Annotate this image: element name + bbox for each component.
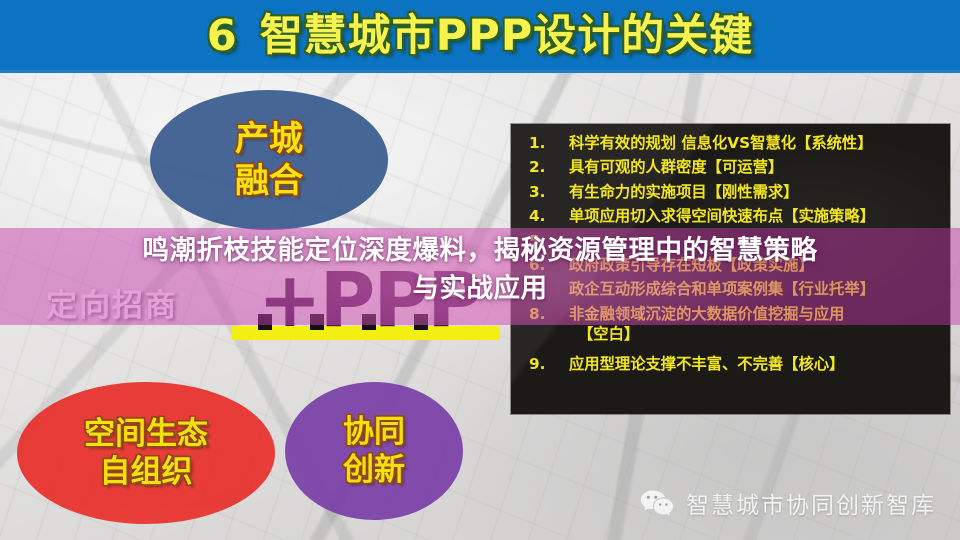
page-title: 6智慧城市PPP设计的关键: [207, 13, 753, 58]
list-item-index: 9.: [521, 355, 569, 375]
wechat-account-label: 智慧城市协同创新智库: [686, 486, 936, 520]
list-item-index: 3.: [521, 183, 569, 203]
diagram-node-kongjian-shengtai: 空间生态 自组织: [17, 382, 275, 524]
list-item-index: 4.: [521, 207, 569, 227]
list-item-text-continued: 【空白】: [569, 325, 944, 345]
list-item-text: 具有可观的人群密度【可运营】: [569, 158, 944, 178]
caption-overlay-title: 鸣潮折枝技能定位深度爆料，揭秘资源管理中的智慧策略 与实战应用: [0, 232, 960, 307]
diagram-node-xietong-chuangxin: 协同 创新: [285, 382, 463, 520]
wechat-icon: [640, 489, 674, 517]
list-item: 3. 有生命力的实施项目【刚性需求】: [521, 183, 944, 203]
node-label-line2: 融合: [235, 163, 303, 199]
list-item: 4. 单项应用切入求得空间快速布点【实施策略】: [521, 207, 944, 227]
slide-header: 6智慧城市PPP设计的关键: [0, 0, 960, 73]
list-item-index: 2.: [521, 158, 569, 178]
diagram-node-chancheng-ronghe: 产城 融合: [150, 90, 388, 230]
node-label-line2: 创新: [343, 454, 405, 487]
page-title-number: 6: [207, 11, 238, 61]
slide-root: 6智慧城市PPP设计的关键 产城 融合 空间生态 自组织 协同 创新 定向招商 …: [0, 0, 960, 540]
list-item: 1. 科学有效的规划 信息化VS智慧化【系统性】: [521, 134, 944, 154]
page-title-text: 智慧城市PPP设计的关键: [260, 11, 754, 61]
list-item: 9. 应用型理论支撑不丰富、不完善【核心】: [521, 355, 944, 375]
caption-line-2: 与实战应用: [0, 270, 960, 308]
list-item-text: 有生命力的实施项目【刚性需求】: [569, 183, 944, 203]
list-item-text: 科学有效的规划 信息化VS智慧化【系统性】: [569, 134, 944, 154]
list-item-index: 1.: [521, 134, 569, 154]
list-item-text: 单项应用切入求得空间快速布点【实施策略】: [569, 207, 944, 227]
wechat-footer: 智慧城市协同创新智库: [640, 486, 936, 520]
list-item-text: 应用型理论支撑不丰富、不完善【核心】: [569, 355, 944, 375]
node-label-line2: 自组织: [100, 456, 193, 489]
node-label-line1: 协同: [343, 416, 405, 449]
node-label-line1: 空间生态: [84, 418, 208, 451]
list-item: 2. 具有可观的人群密度【可运营】: [521, 158, 944, 178]
caption-line-1: 鸣潮折枝技能定位深度爆料，揭秘资源管理中的智慧策略: [0, 232, 960, 270]
node-label-line1: 产城: [235, 121, 303, 157]
